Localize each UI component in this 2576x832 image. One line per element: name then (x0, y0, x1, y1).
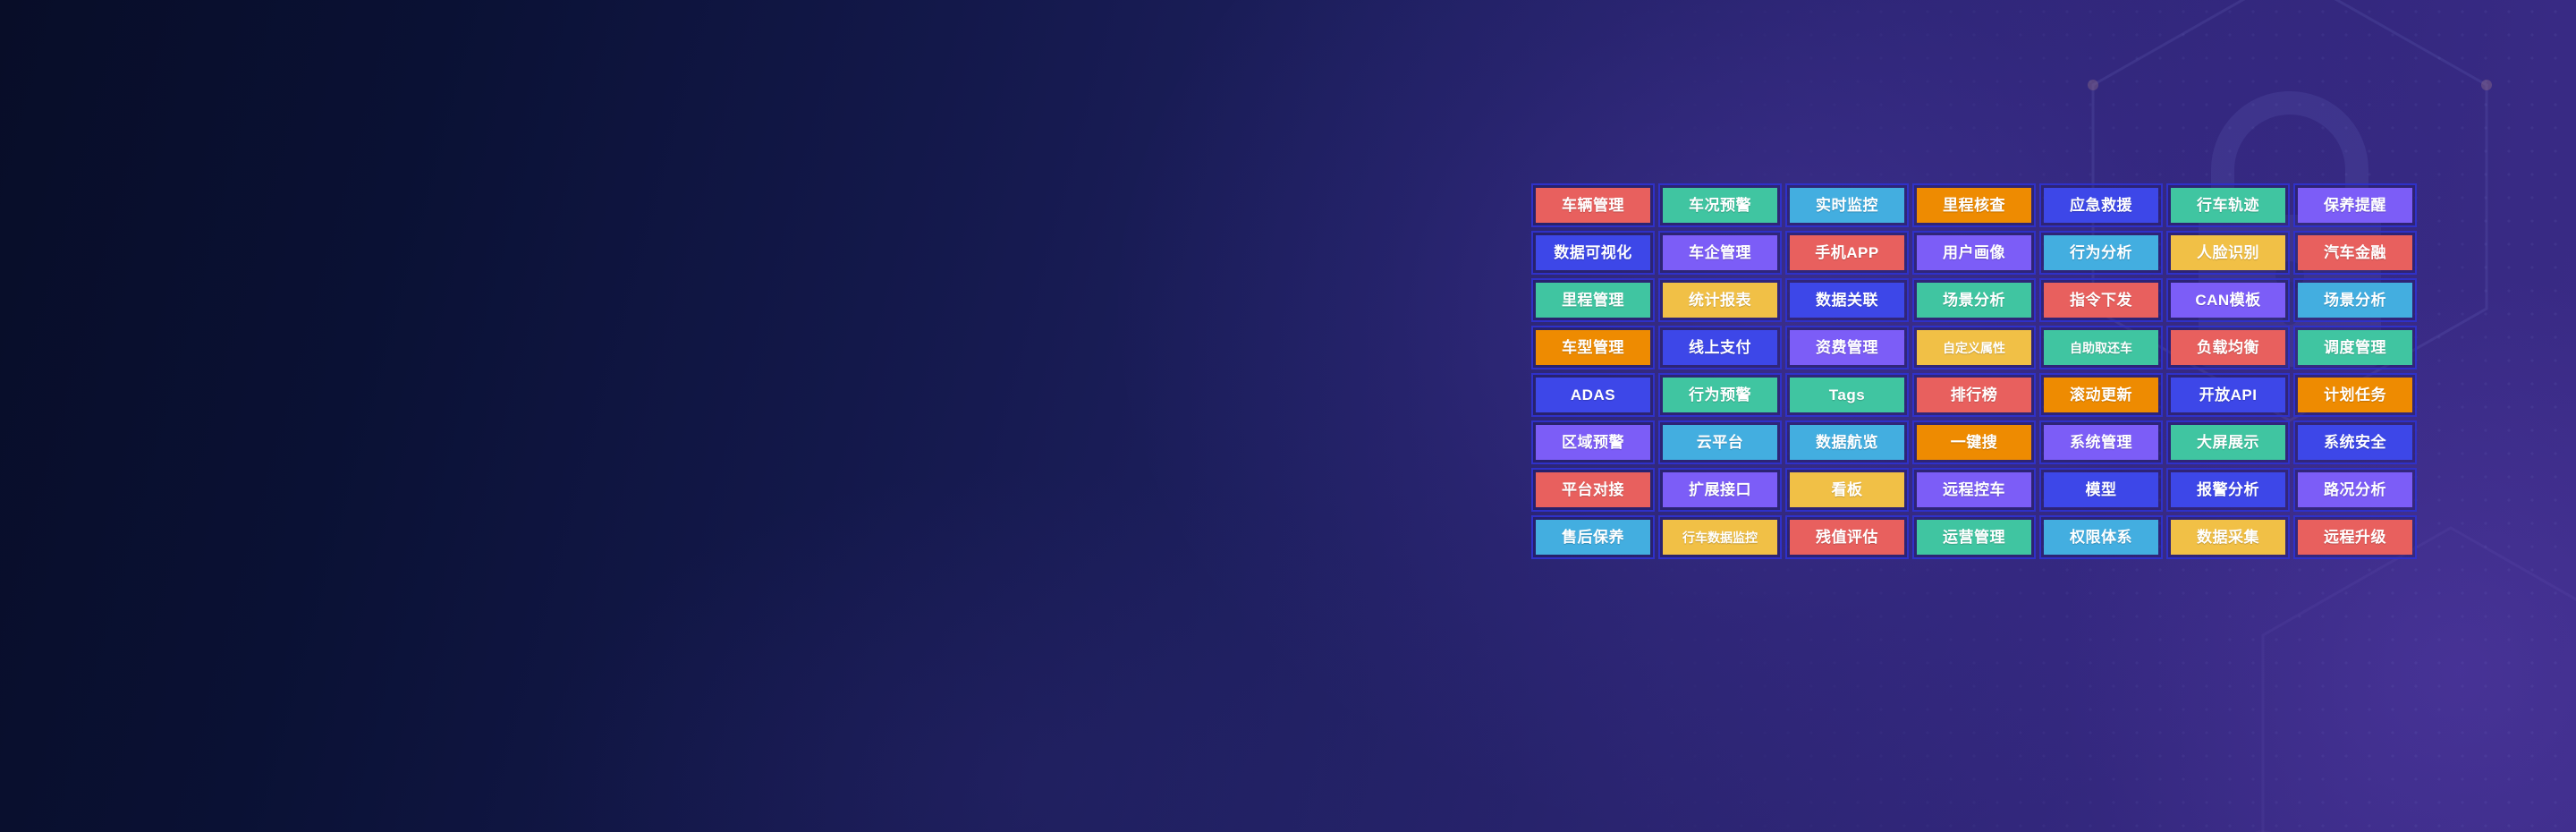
tile-cell[interactable]: 车企管理 (1658, 231, 1782, 275)
tile-cell[interactable]: 资费管理 (1785, 326, 1909, 369)
tile-label: 系统安全 (2324, 435, 2386, 450)
tile-cell[interactable]: 路况分析 (2293, 468, 2417, 512)
tile-cell[interactable]: 线上支付 (1658, 326, 1782, 369)
background-glow-bottom (537, 465, 1521, 832)
tile-surface[interactable]: 车辆管理 (1536, 188, 1650, 223)
tile-cell[interactable]: 行为分析 (2039, 231, 2163, 275)
tile-surface[interactable]: 里程核查 (1917, 188, 2031, 223)
tile-label: 区域预警 (1562, 435, 1624, 450)
tile-cell[interactable]: 指令下发 (2039, 278, 2163, 322)
tile-label: 权限体系 (2070, 530, 2132, 545)
tile-label: 自助取还车 (2070, 342, 2132, 354)
tile-surface[interactable]: 运营管理 (1917, 520, 2031, 555)
tile-label: 车况预警 (1689, 198, 1751, 213)
tile-label: 人脸识别 (2197, 245, 2259, 260)
tile-cell[interactable]: 排行榜 (1912, 373, 2036, 417)
tile-label: ADAS (1571, 387, 1615, 403)
tile-label: 数据关联 (1816, 293, 1878, 308)
tile-label: 应急救援 (2070, 198, 2132, 213)
tile-cell[interactable]: 人脸识别 (2166, 231, 2290, 275)
tile-cell[interactable]: 远程控车 (1912, 468, 2036, 512)
tile-cell[interactable]: 统计报表 (1658, 278, 1782, 322)
tile-cell[interactable]: 远程升级 (2293, 515, 2417, 559)
tile-cell[interactable]: 开放API (2166, 373, 2290, 417)
tile-surface[interactable]: 自定义属性 (1917, 330, 2031, 365)
tile-cell[interactable]: ADAS (1531, 373, 1655, 417)
tile-surface[interactable]: 排行榜 (1917, 378, 2031, 412)
feature-tile-grid: 车辆管理 车况预警 实时监控 里程核查 应急救援 (1531, 183, 2417, 559)
tile-cell[interactable]: 手机APP (1785, 231, 1909, 275)
tile-row: ADAS 行为预警 Tags 排行榜 滚动更新 (1531, 373, 2417, 417)
tile-cell[interactable]: 数据关联 (1785, 278, 1909, 322)
tile-label: CAN模板 (2195, 293, 2260, 308)
tile-surface[interactable]: 数据航览 (1790, 425, 1904, 460)
tile-label: 负载均衡 (2197, 340, 2259, 355)
tile-row: 数据可视化 车企管理 手机APP 用户画像 行为分析 (1531, 231, 2417, 275)
tile-surface[interactable]: 实时监控 (1790, 188, 1904, 223)
tile-label: Tags (1829, 387, 1865, 403)
tile-surface[interactable]: 人脸识别 (2171, 235, 2285, 270)
tile-cell[interactable]: 车况预警 (1658, 183, 1782, 227)
tile-cell[interactable]: 应急救援 (2039, 183, 2163, 227)
tile-cell[interactable]: 滚动更新 (2039, 373, 2163, 417)
tile-label: 行为预警 (1689, 387, 1751, 403)
tile-cell[interactable]: 车辆管理 (1531, 183, 1655, 227)
tile-label: 数据航览 (1816, 435, 1878, 450)
tile-label: 场景分析 (2324, 293, 2386, 308)
tile-surface[interactable]: 一键搜 (1917, 425, 2031, 460)
tile-label: 调度管理 (2324, 340, 2386, 355)
tile-label: 数据可视化 (1554, 245, 1632, 260)
tile-surface[interactable]: 残值评估 (1790, 520, 1904, 555)
tile-cell[interactable]: 实时监控 (1785, 183, 1909, 227)
tile-label: 场景分析 (1943, 293, 2005, 308)
tile-cell[interactable]: 自助取还车 (2039, 326, 2163, 369)
tile-cell[interactable]: 模型 (2039, 468, 2163, 512)
tile-label: 数据采集 (2197, 530, 2259, 545)
tile-cell[interactable]: 数据可视化 (1531, 231, 1655, 275)
tile-surface[interactable]: 手机APP (1790, 235, 1904, 270)
tile-row: 平台对接 扩展接口 看板 远程控车 模型 (1531, 468, 2417, 512)
tile-surface[interactable]: 系统安全 (2298, 425, 2412, 460)
tile-surface[interactable]: 权限体系 (2044, 520, 2158, 555)
tile-row: 售后保养 行车数据监控 残值评估 运营管理 权限体系 (1531, 515, 2417, 559)
tile-surface[interactable]: 行车轨迹 (2171, 188, 2285, 223)
tile-label: 系统管理 (2070, 435, 2132, 450)
tile-surface[interactable]: 系统管理 (2044, 425, 2158, 460)
tile-surface[interactable]: 统计报表 (1663, 283, 1777, 318)
tile-label: 线上支付 (1689, 340, 1751, 355)
tile-cell[interactable]: 用户画像 (1912, 231, 2036, 275)
tile-cell[interactable]: 权限体系 (2039, 515, 2163, 559)
tile-label: 自定义属性 (1943, 342, 2005, 354)
tile-surface[interactable]: 行车数据监控 (1663, 520, 1777, 555)
tile-cell[interactable]: 里程管理 (1531, 278, 1655, 322)
tile-cell[interactable]: 区域预警 (1531, 420, 1655, 464)
tile-label: 指令下发 (2070, 293, 2132, 308)
tile-surface[interactable]: 车况预警 (1663, 188, 1777, 223)
tile-cell[interactable]: 系统安全 (2293, 420, 2417, 464)
tile-cell[interactable]: 自定义属性 (1912, 326, 2036, 369)
tile-surface[interactable]: 线上支付 (1663, 330, 1777, 365)
tile-label: 报警分析 (2197, 482, 2259, 497)
tile-cell[interactable]: 云平台 (1658, 420, 1782, 464)
tile-surface[interactable]: 指令下发 (2044, 283, 2158, 318)
tile-cell[interactable]: 负载均衡 (2166, 326, 2290, 369)
tile-surface[interactable]: 大屏展示 (2171, 425, 2285, 460)
tile-cell[interactable]: 报警分析 (2166, 468, 2290, 512)
tile-label: 远程控车 (1943, 482, 2005, 497)
tile-cell[interactable]: 车型管理 (1531, 326, 1655, 369)
tile-cell[interactable]: 一键搜 (1912, 420, 2036, 464)
tile-surface[interactable]: 数据可视化 (1536, 235, 1650, 270)
tile-surface[interactable]: 报警分析 (2171, 472, 2285, 507)
tile-surface[interactable]: 里程管理 (1536, 283, 1650, 318)
tile-surface[interactable]: 云平台 (1663, 425, 1777, 460)
tile-label: 里程管理 (1562, 293, 1624, 308)
tile-label: 手机APP (1815, 245, 1878, 260)
tile-surface[interactable]: 看板 (1790, 472, 1904, 507)
tile-surface[interactable]: 开放API (2171, 378, 2285, 412)
tile-surface[interactable]: 售后保养 (1536, 520, 1650, 555)
tile-label: 车辆管理 (1562, 198, 1624, 213)
tile-label: 行车轨迹 (2197, 198, 2259, 213)
tile-cell[interactable]: 数据采集 (2166, 515, 2290, 559)
tile-surface[interactable]: 模型 (2044, 472, 2158, 507)
tile-label: 车型管理 (1562, 340, 1624, 355)
tile-row: 区域预警 云平台 数据航览 一键搜 系统管理 (1531, 420, 2417, 464)
tile-label: 一键搜 (1951, 435, 1998, 450)
tile-label: 看板 (1832, 482, 1863, 497)
tile-label: 模型 (2086, 482, 2117, 497)
tile-cell[interactable]: 场景分析 (2293, 278, 2417, 322)
tile-row: 车型管理 线上支付 资费管理 自定义属性 自助取还车 (1531, 326, 2417, 369)
tile-surface[interactable]: 保养提醒 (2298, 188, 2412, 223)
tile-label: 汽车金融 (2324, 245, 2386, 260)
tile-surface[interactable]: 数据关联 (1790, 283, 1904, 318)
tile-cell[interactable]: 售后保养 (1531, 515, 1655, 559)
tile-label: 残值评估 (1816, 530, 1878, 545)
tile-label: 计划任务 (2324, 387, 2386, 403)
tile-surface[interactable]: 平台对接 (1536, 472, 1650, 507)
tile-surface[interactable]: ADAS (1536, 378, 1650, 412)
tile-cell[interactable]: CAN模板 (2166, 278, 2290, 322)
tile-surface[interactable]: 数据采集 (2171, 520, 2285, 555)
tile-surface[interactable]: 用户画像 (1917, 235, 2031, 270)
tile-surface[interactable]: 负载均衡 (2171, 330, 2285, 365)
tile-surface[interactable]: 扩展接口 (1663, 472, 1777, 507)
tile-label: 车企管理 (1689, 245, 1751, 260)
tile-label: 行为分析 (2070, 245, 2132, 260)
tile-label: 保养提醒 (2324, 198, 2386, 213)
tile-surface[interactable]: 路况分析 (2298, 472, 2412, 507)
tile-label: 运营管理 (1943, 530, 2005, 545)
tile-cell[interactable]: 平台对接 (1531, 468, 1655, 512)
tile-cell[interactable]: 残值评估 (1785, 515, 1909, 559)
tile-surface[interactable]: 行为预警 (1663, 378, 1777, 412)
tile-label: 行车数据监控 (1682, 531, 1758, 544)
tile-label: 资费管理 (1816, 340, 1878, 355)
tile-cell[interactable]: 场景分析 (1912, 278, 2036, 322)
tile-cell[interactable]: 行车数据监控 (1658, 515, 1782, 559)
tile-surface[interactable]: 调度管理 (2298, 330, 2412, 365)
tile-cell[interactable]: 计划任务 (2293, 373, 2417, 417)
tile-label: 排行榜 (1951, 387, 1998, 403)
tile-label: 滚动更新 (2070, 387, 2132, 403)
tile-cell[interactable]: 汽车金融 (2293, 231, 2417, 275)
tile-cell[interactable]: 大屏展示 (2166, 420, 2290, 464)
tile-surface[interactable]: 区域预警 (1536, 425, 1650, 460)
tile-surface[interactable]: 应急救援 (2044, 188, 2158, 223)
tile-cell[interactable]: 里程核查 (1912, 183, 2036, 227)
tile-cell[interactable]: 扩展接口 (1658, 468, 1782, 512)
tile-label: 售后保养 (1562, 530, 1624, 545)
tile-label: 大屏展示 (2197, 435, 2259, 450)
tile-label: 云平台 (1697, 435, 1744, 450)
tile-surface[interactable]: 车型管理 (1536, 330, 1650, 365)
tile-label: 远程升级 (2324, 530, 2386, 545)
tile-surface[interactable]: 汽车金融 (2298, 235, 2412, 270)
tile-cell[interactable]: 调度管理 (2293, 326, 2417, 369)
tile-row: 里程管理 统计报表 数据关联 场景分析 指令下发 (1531, 278, 2417, 322)
tile-label: 统计报表 (1689, 293, 1751, 308)
tile-surface[interactable]: 计划任务 (2298, 378, 2412, 412)
tile-cell[interactable]: 行为预警 (1658, 373, 1782, 417)
tile-label: 里程核查 (1943, 198, 2005, 213)
tile-label: 平台对接 (1562, 482, 1624, 497)
tile-label: 开放API (2199, 387, 2258, 403)
tile-label: 用户画像 (1943, 245, 2005, 260)
tile-surface[interactable]: 远程控车 (1917, 472, 2031, 507)
tile-surface[interactable]: 自助取还车 (2044, 330, 2158, 365)
tile-cell[interactable]: 运营管理 (1912, 515, 2036, 559)
tile-cell[interactable]: Tags (1785, 373, 1909, 417)
tile-cell[interactable]: 保养提醒 (2293, 183, 2417, 227)
tile-cell[interactable]: 看板 (1785, 468, 1909, 512)
tile-surface[interactable]: 车企管理 (1663, 235, 1777, 270)
tile-row: 车辆管理 车况预警 实时监控 里程核查 应急救援 (1531, 183, 2417, 227)
tile-label: 实时监控 (1816, 198, 1878, 213)
tile-surface[interactable]: CAN模板 (2171, 283, 2285, 318)
tile-cell[interactable]: 系统管理 (2039, 420, 2163, 464)
tile-surface[interactable]: 场景分析 (1917, 283, 2031, 318)
tile-label: 路况分析 (2324, 482, 2386, 497)
tile-surface[interactable]: 远程升级 (2298, 520, 2412, 555)
tile-surface[interactable]: 资费管理 (1790, 330, 1904, 365)
app-background: 车辆管理 车况预警 实时监控 里程核查 应急救援 (0, 0, 2576, 832)
tile-surface[interactable]: Tags (1790, 378, 1904, 412)
tile-surface[interactable]: 滚动更新 (2044, 378, 2158, 412)
tile-cell[interactable]: 数据航览 (1785, 420, 1909, 464)
tile-surface[interactable]: 行为分析 (2044, 235, 2158, 270)
tile-label: 扩展接口 (1689, 482, 1751, 497)
tile-cell[interactable]: 行车轨迹 (2166, 183, 2290, 227)
tile-surface[interactable]: 场景分析 (2298, 283, 2412, 318)
